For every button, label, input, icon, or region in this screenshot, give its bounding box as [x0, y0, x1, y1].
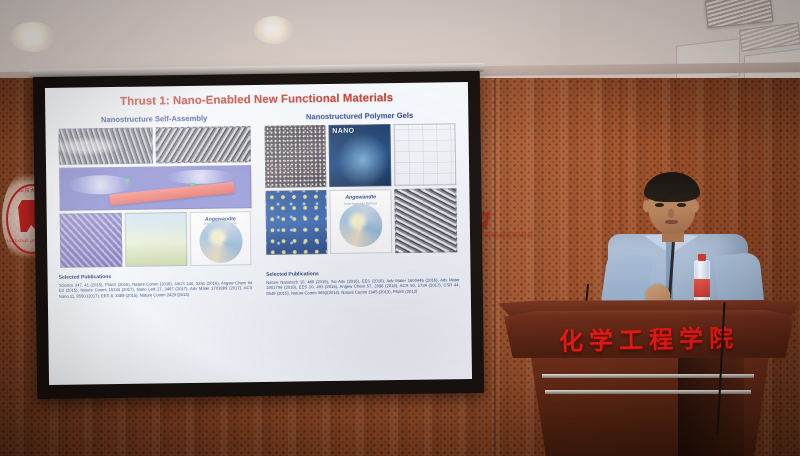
figure-grid: NANO	[264, 123, 456, 188]
publications-section: Selected Publications Science 347, 41 (2…	[57, 269, 462, 300]
speaker-nose	[668, 209, 674, 218]
schematic-cloud	[68, 175, 133, 195]
figure-sem-micrograph-dendritic	[58, 127, 153, 164]
figure-nanoparticle-dispersion	[265, 190, 328, 255]
column-heading: Nanostructured Polymer Gels	[264, 110, 456, 122]
figure-journal-cover-striped	[60, 213, 123, 268]
angewandte-cover-art	[339, 203, 383, 247]
figure-diagram-grid-panel	[394, 123, 457, 186]
figure-journal-cover-nano: NANO	[329, 124, 392, 187]
bottle-cap	[698, 254, 706, 261]
slide-columns: Nanostructure Self-Assembly	[54, 110, 461, 268]
ceiling-downlight-icon	[254, 16, 294, 44]
figure-speckled-micrograph	[264, 125, 327, 188]
projection-screen[interactable]: Thrust 1: Nano-Enabled New Functional Ma…	[33, 71, 484, 399]
bottle-label	[694, 279, 710, 296]
slide-content: Thrust 1: Nano-Enabled New Functional Ma…	[45, 82, 472, 385]
speaker-eye	[677, 203, 686, 207]
slide-column-polymer-gels: Nanostructured Polymer Gels NANO Angewa	[264, 110, 458, 265]
figure-journal-cover-angewandte: Angewandte International Edition	[189, 211, 252, 266]
projected-slide: Thrust 1: Nano-Enabled New Functional Ma…	[45, 82, 472, 385]
journal-cover-grid: Angewandte International Edition	[60, 211, 252, 268]
column-heading: Nanostructure Self-Assembly	[58, 113, 250, 125]
publications-list: Nature Nanotech 10, 469 (2015), Sci Adv …	[266, 277, 460, 297]
angewandte-cover-art	[199, 220, 243, 264]
publications-list: Science 347, 41 (2015), PNAS (2015), Nat…	[59, 280, 253, 300]
figure-sem-micrograph-layered	[156, 126, 251, 163]
slide-title: Thrust 1: Nano-Enabled New Functional Ma…	[54, 91, 459, 109]
figure-journal-cover-angewandte-gel: Angewandte International Edition	[330, 189, 393, 254]
publications-left: Selected Publications Science 347, 41 (2…	[59, 272, 253, 300]
cover-caption	[63, 216, 118, 221]
figure-grid-lower: Angewandte International Edition	[265, 188, 457, 255]
schematic-arrow-icon	[125, 179, 131, 184]
publications-right: Selected Publications Nature Nanotech 10…	[266, 269, 460, 297]
speaker-eye	[655, 203, 664, 207]
figure-grid	[58, 126, 250, 165]
lectern-label: 化学工程学院	[504, 317, 795, 358]
figure-journal-cover-landscape	[125, 212, 188, 267]
wall-seam	[494, 78, 496, 456]
water-bottle[interactable]	[694, 260, 710, 306]
speaker-ear	[692, 200, 699, 212]
lectern-trim-strip	[542, 374, 754, 378]
lecture-hall-photo: 山东大学 SHANDONG UNIVERSITY 学院 eering CHEMI…	[0, 0, 800, 456]
speaker-hair	[644, 172, 700, 202]
figure-assembly-schematic	[59, 165, 251, 211]
ceiling-downlight-icon	[10, 22, 56, 52]
speaker-mouth	[665, 220, 678, 224]
slide-column-self-assembly: Nanostructure Self-Assembly	[58, 113, 252, 268]
figure-gel-network-micrograph	[395, 188, 458, 253]
nano-caption: NANO	[332, 127, 354, 134]
lectern-shadow	[678, 356, 744, 456]
speaker-ear	[643, 200, 650, 212]
lectern: 化学工程学院	[498, 300, 800, 456]
